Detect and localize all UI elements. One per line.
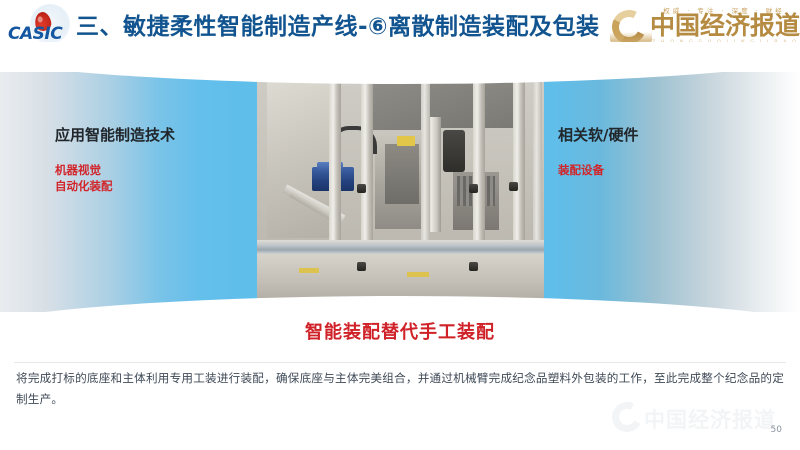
page-number: 50 (771, 425, 782, 435)
body-divider (14, 362, 786, 363)
page-title: 三、敏捷柔性智能制造产线-⑥离散制造装配及包装 (76, 12, 616, 42)
photo-bracket-3 (509, 182, 518, 191)
left-panel-item-1: 自动化装配 (55, 178, 265, 194)
equipment-photo (257, 72, 544, 300)
watermark-text: 中国经济报道 (644, 404, 776, 434)
right-panel-item-0: 装配设备 (558, 162, 768, 178)
photo-window-d (483, 82, 517, 128)
brand-main-text: 中国经济报道 (650, 12, 796, 40)
photo-yellow-label (397, 136, 415, 146)
casic-logo-text: CASIC (8, 24, 80, 44)
photo-bracket-2 (469, 184, 478, 193)
right-info-panel: 相关软/硬件 装配设备 (558, 124, 768, 178)
watermark-c-icon (608, 398, 646, 436)
casic-logo: CASIC (8, 10, 78, 46)
brand-watermark: 中国经济报道 (612, 398, 792, 442)
photo-base-label-2 (407, 272, 429, 277)
left-panel-item-0: 机器视觉 (55, 162, 265, 178)
photo-base-cabinet (257, 254, 544, 300)
banner-caption: 智能装配替代手工装配 (0, 318, 800, 344)
photo-bracket-1 (357, 184, 366, 193)
photo-bracket-5 (469, 262, 478, 271)
right-panel-heading: 相关软/硬件 (558, 124, 768, 146)
photo-mechanism-inner (385, 144, 419, 204)
photo-dark-module (443, 130, 465, 172)
photo-rail (257, 240, 544, 254)
photo-window-b (369, 80, 421, 130)
photo-base-label-1 (299, 268, 319, 273)
content-banner: 应用智能制造技术 机器视觉 自动化装配 相关软/硬件 装配设备 (0, 72, 800, 312)
photo-bracket-4 (357, 262, 366, 271)
left-panel-heading: 应用智能制造技术 (55, 124, 265, 146)
left-info-panel: 应用智能制造技术 机器视觉 自动化装配 (55, 124, 265, 194)
